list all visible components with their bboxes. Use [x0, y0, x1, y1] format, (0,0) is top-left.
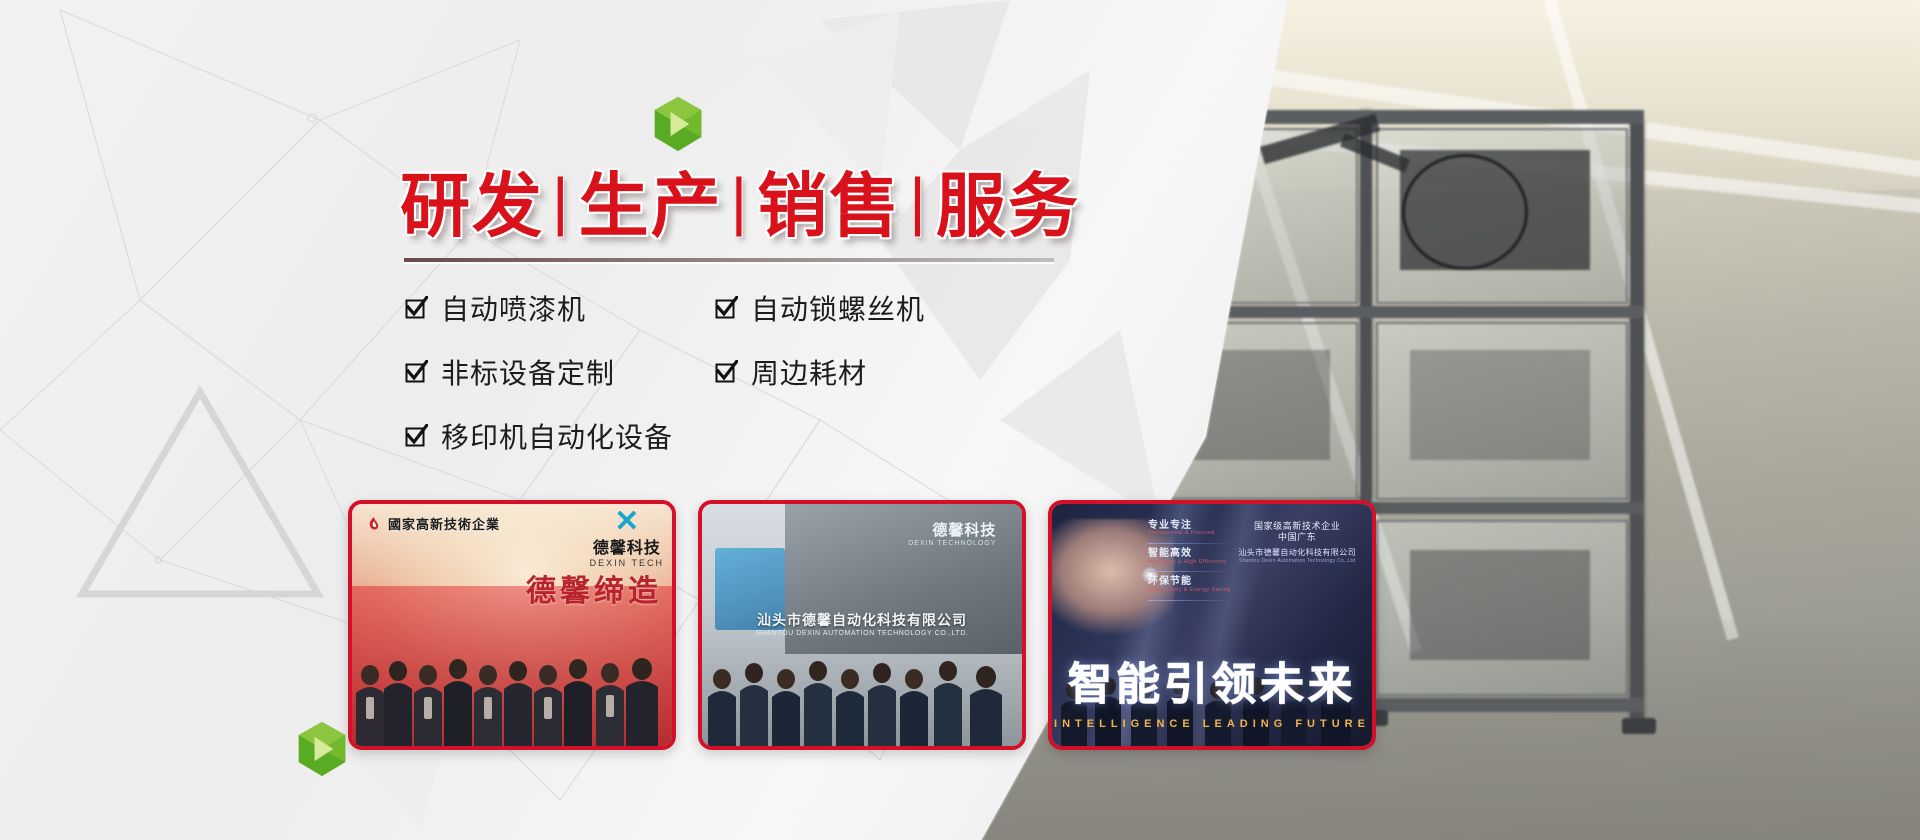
group-photo-people [352, 635, 672, 746]
photo-card-award[interactable]: 國家高新技術企業 ✕ 德馨科技 DEXIN TECH 德馨缔造 [348, 500, 676, 750]
list-item-label: 非标设备定制 [441, 352, 615, 392]
list-item-label: 自动喷漆机 [441, 288, 586, 328]
checkbox-checked-icon [404, 424, 428, 448]
feature-tag-list: 专业专注 Professional & Focused 智能高效 Intelli… [1148, 521, 1231, 606]
feature-tag-sublabel: Eco-friendly & Energy Saving [1148, 588, 1231, 594]
list-item-label: 自动锁螺丝机 [751, 288, 925, 328]
list-item: 非标设备定制 [404, 352, 704, 392]
booth-logo: 德馨科技 DEXIN TECHNOLOGY [908, 519, 996, 547]
divider [404, 258, 1054, 262]
list-item: 自动喷漆机 [404, 288, 704, 328]
headline-segment-rd: 研发 [400, 150, 544, 251]
badge-label: 國家高新技術企業 [388, 514, 500, 533]
feature-tag-sublabel: Professional & Focused [1148, 531, 1231, 537]
badge-national-hi-tech: 國家高新技術企業 [366, 514, 500, 533]
headline-segment-service: 服务 [936, 150, 1080, 251]
feature-tag-sublabel: Intelligent & High Efficiency [1148, 560, 1231, 566]
hexagon-play-icon [294, 720, 350, 778]
headline-separator: | [731, 164, 750, 238]
checkbox-checked-icon [714, 296, 738, 320]
list-item-label: 周边耗材 [751, 352, 867, 392]
credential-region: 中国广东 [1238, 532, 1356, 543]
headline-segment-production: 生产 [579, 150, 723, 251]
logo-name-cn: 德馨科技 [908, 519, 996, 540]
photo-card-gallery: 國家高新技術企業 ✕ 德馨科技 DEXIN TECH 德馨缔造 [348, 500, 1376, 750]
product-checklist: 自动喷漆机 自动锁螺丝机 非标设备定制 [404, 288, 1014, 456]
checkbox-checked-icon [714, 360, 738, 384]
credential-list: 国家级高新技术企业 中国广东 汕头市德馨自动化科技有限公司 Shantou De… [1238, 521, 1356, 565]
slogan-text: 德馨缔造 [526, 566, 662, 610]
triangle-outline-decoration [70, 380, 330, 615]
hexagon-play-icon [650, 95, 706, 153]
booth-company-name: 汕头市德馨自动化科技有限公司 SHANTOU DEXIN AUTOMATION … [702, 610, 1022, 637]
photo-card-intelligent-future[interactable]: 专业专注 Professional & Focused 智能高效 Intelli… [1048, 500, 1376, 750]
page-title: 研发 | 生产 | 销售 | 服务 [400, 150, 1080, 251]
list-item: 周边耗材 [714, 352, 1014, 392]
company-name-cn: 汕头市德馨自动化科技有限公司 [702, 610, 1022, 630]
list-item-label: 移印机自动化设备 [441, 416, 673, 456]
logo-name-en: DEXIN TECHNOLOGY [908, 540, 996, 547]
headline-separator: | [552, 164, 571, 238]
card-subtitle: INTELLIGENCE LEADING FUTURE [1052, 718, 1372, 730]
dexin-logo: ✕ 德馨科技 DEXIN TECH [590, 510, 664, 568]
headline-segment-sales: 销售 [757, 150, 901, 251]
list-item: 自动锁螺丝机 [714, 288, 1014, 328]
company-name-cn: 汕头市德馨自动化科技有限公司 [1238, 548, 1356, 558]
logo-mark: ✕ [590, 510, 664, 534]
card-headline: 智能引领未来 [1065, 648, 1359, 712]
company-name-en: Shantou Dexin Automation Technology Co.,… [1238, 558, 1356, 564]
checkbox-checked-icon [404, 360, 428, 384]
headline-separator: | [909, 164, 928, 238]
list-item: 移印机自动化设备 [404, 416, 1014, 456]
group-photo-people [702, 635, 1022, 746]
credential-label: 国家级高新技术企业 [1238, 521, 1356, 532]
checkbox-checked-icon [404, 296, 428, 320]
promo-banner: 研发 | 生产 | 销售 | 服务 自动喷漆机 自 [0, 0, 1920, 840]
logo-name-cn: 德馨科技 [590, 534, 664, 558]
flame-logo-icon [366, 516, 382, 532]
photo-card-booth[interactable]: 德馨科技 DEXIN TECHNOLOGY 汕头市德馨自动化科技有限公司 SHA… [698, 500, 1026, 750]
